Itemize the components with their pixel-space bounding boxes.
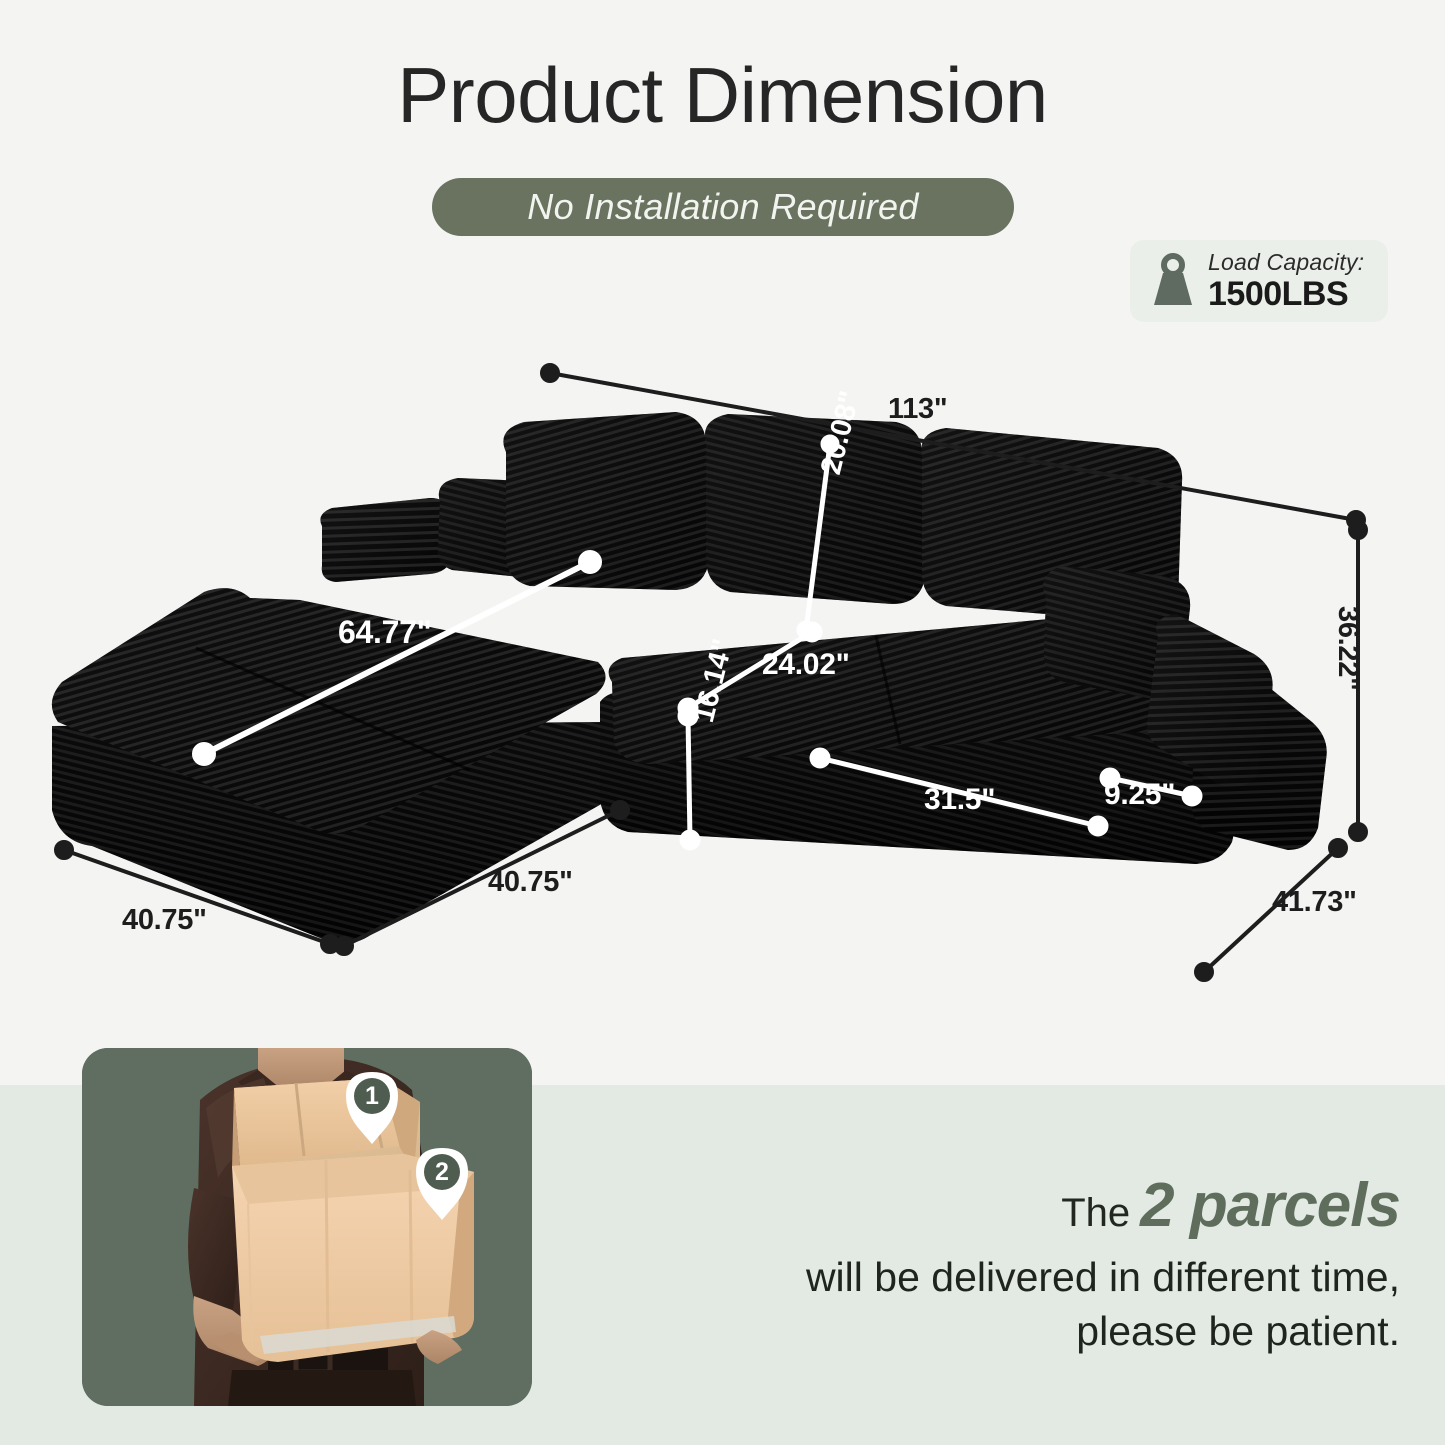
dimension-label-chaise-width: 40.75" [122, 904, 207, 937]
no-installation-label: No Installation Required [527, 186, 918, 228]
delivery-headline-highlight: 2 parcels [1140, 1171, 1400, 1240]
delivery-line-3: please be patient. [640, 1304, 1400, 1358]
delivery-headline: The2 parcels [640, 1175, 1400, 1244]
dimension-label-seat-width: 31.5" [924, 783, 995, 817]
delivery-copy: The2 parcels will be delivered in differ… [640, 1175, 1400, 1358]
load-capacity-badge: Load Capacity: 1500LBS [1130, 240, 1388, 322]
delivery-photo: 1 2 [82, 1048, 532, 1406]
svg-text:1: 1 [365, 1082, 379, 1110]
weight-icon [1146, 253, 1200, 309]
load-capacity-value: 1500LBS [1208, 277, 1364, 311]
load-capacity-label: Load Capacity: [1208, 251, 1364, 274]
dimension-label-overall-height: 36.22" [1331, 606, 1364, 691]
page-title: Product Dimension [0, 52, 1445, 138]
dimension-label-chaise-depth: 40.75" [488, 866, 573, 899]
delivery-line-2: will be delivered in different time, [640, 1250, 1400, 1304]
dimension-label-seat-depth: 24.02" [762, 648, 850, 682]
product-dimension-infographic: Product Dimension No Installation Requir… [0, 0, 1445, 1445]
svg-text:2: 2 [435, 1158, 449, 1186]
dimension-label-overall-depth: 41.73" [1272, 886, 1357, 919]
dimension-label-chaise-length: 64.77" [338, 614, 431, 651]
dimension-label-armrest-width: 9.25" [1104, 778, 1175, 812]
no-installation-badge: No Installation Required [432, 178, 1014, 236]
load-capacity-text: Load Capacity: 1500LBS [1208, 251, 1364, 311]
delivery-headline-prefix: The [1061, 1191, 1130, 1235]
dimension-label-width-overall: 113" [888, 393, 947, 426]
